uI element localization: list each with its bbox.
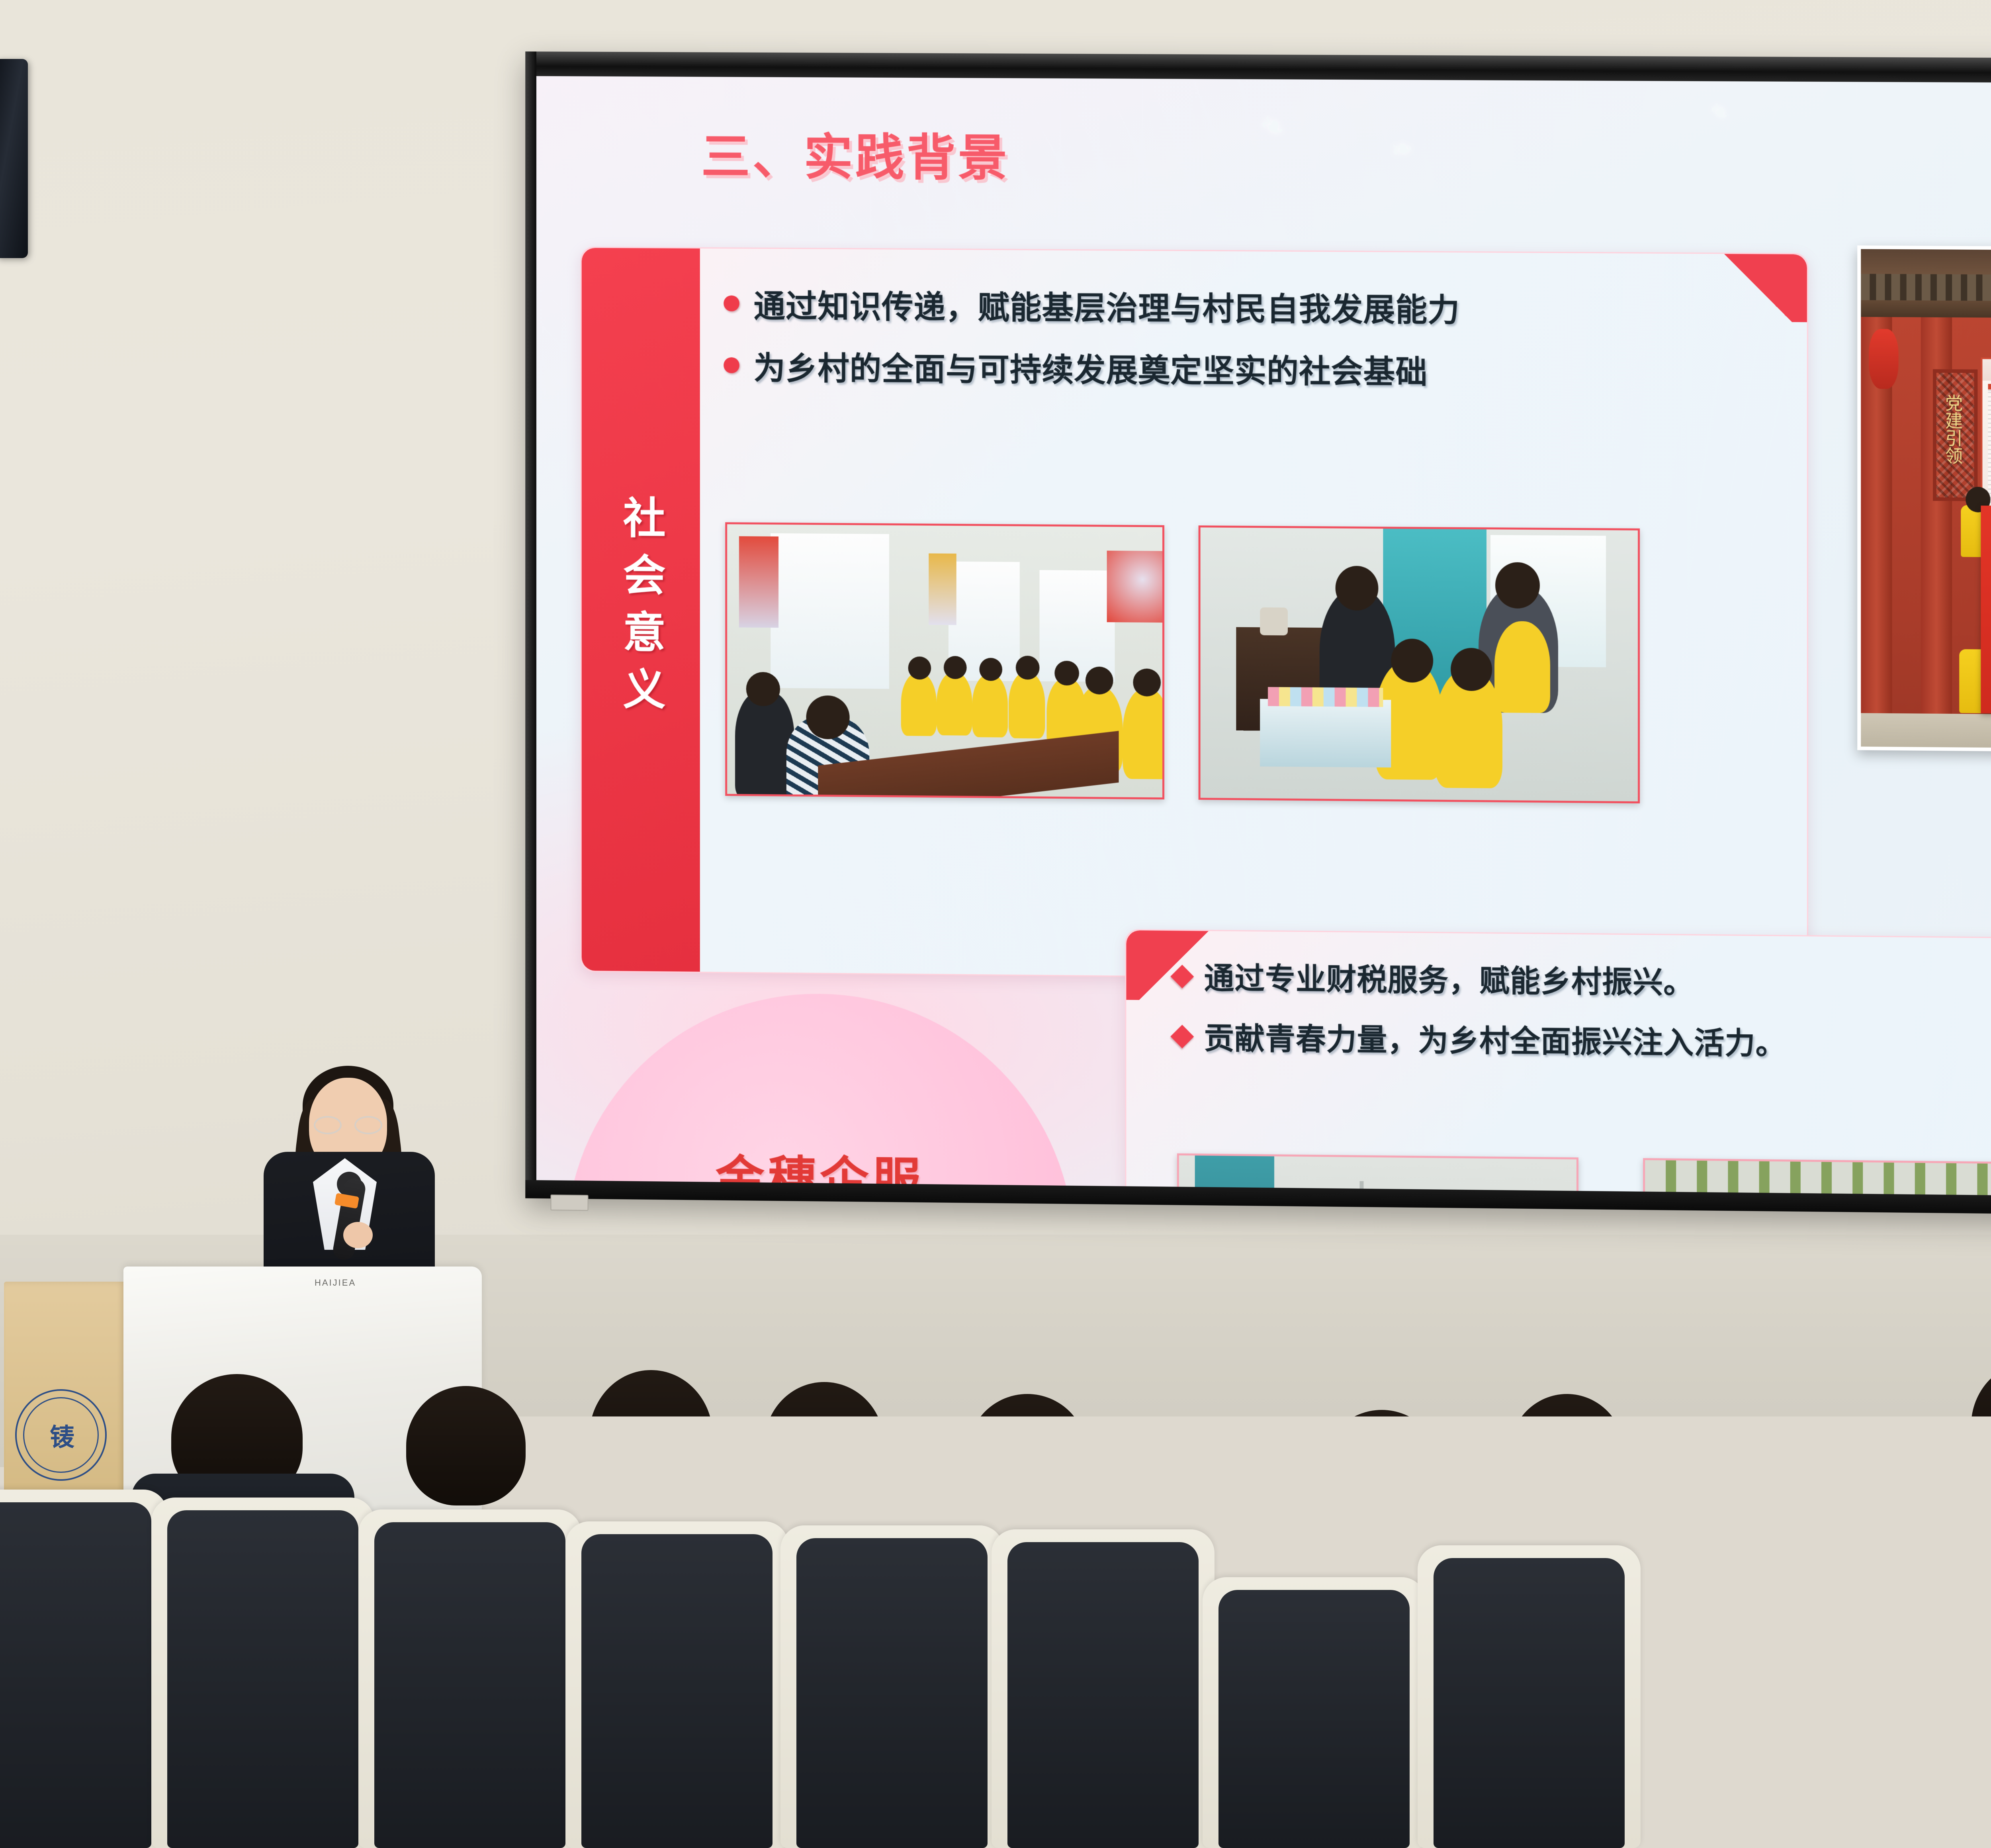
school-emblem-glyph: 鿏 [17, 1391, 105, 1479]
auditorium-seat[interactable] [1203, 1577, 1426, 1848]
bullet-text: 通过专业财税服务，赋能乡村振兴。 [1204, 960, 1694, 1002]
audience-head [765, 1382, 884, 1505]
social-significance-tab-label: 社会意义 [610, 495, 671, 724]
team-mission-card: 团队使命 通过专业财税服务，赋能乡村振兴。 贡献青春力量，为乡村全面振兴注入活力… [1125, 929, 1991, 1201]
butterfly-decoration-icon: ❧ [1705, 96, 1735, 127]
audience-head [406, 1386, 526, 1505]
banner-line-2: 会计学院金穗企服 [1981, 601, 1991, 635]
bullet-item: 贡献青春力量，为乡村全面振兴注入活力。 [1174, 1020, 1991, 1068]
bullet-text: 通过知识传递，赋能基层治理与村民自我发展能力 [754, 287, 1460, 329]
social-significance-card: 社会意义 通过知识传递，赋能基层治理与村民自我发展能力 为乡村的全面与可持续发展… [581, 247, 1808, 983]
lecture-hall-room: ❧ ❧ ❧ 三、实践背景 社会意义 通过知识传递，赋能基层治理与村民自我发展能力 [0, 0, 1991, 1848]
team-banner: 广西金融职业技术学院 会计学院金穗企服 乡村振兴服务队 [1981, 505, 1991, 715]
audience-head [1509, 1394, 1625, 1513]
social-bullet-list: 通过知识传递，赋能基层治理与村民自我发展能力 为乡村的全面与可持续发展奠定坚实的… [724, 287, 1771, 417]
butterfly-decoration-icon: ❧ [1389, 134, 1416, 164]
notebook [1203, 1547, 1294, 1579]
temple-couplet-left: 党建引领 [1938, 369, 1965, 489]
podium-side-panel: 鿏 [4, 1282, 127, 1521]
office-consultation-photo [1199, 525, 1640, 803]
auditorium-seat[interactable] [0, 1490, 167, 1848]
temple-ground [1861, 713, 1991, 751]
auditorium-seat[interactable] [780, 1525, 1003, 1848]
bullet-dot-icon [724, 357, 739, 373]
mission-bullet-list: 通过专业财税服务，赋能乡村振兴。 贡献青春力量，为乡村全面振兴注入活力。 [1174, 960, 1991, 1091]
school-emblem-icon: 鿏 [15, 1389, 107, 1481]
presentation-slide: ❧ ❧ ❧ 三、实践背景 社会意义 通过知识传递，赋能基层治理与村民自我发展能力 [536, 76, 1991, 1201]
temple-group-photo: 马家村“党建引领·筑梦马家”党建品牌 党建引领 筑梦马家 党建引领 [1857, 245, 1991, 755]
bullet-text: 贡献青春力量，为乡村全面振兴注入活力。 [1204, 1020, 1786, 1063]
auditorium-seat[interactable] [1418, 1545, 1641, 1848]
banner-line-3: 乡村振兴服务队 [1981, 632, 1991, 666]
projection-screen[interactable]: ❧ ❧ ❧ 三、实践背景 社会意义 通过知识传递，赋能基层治理与村民自我发展能力 [525, 51, 1991, 1219]
auditorium-seat[interactable] [151, 1498, 374, 1848]
bullet-diamond-icon [1170, 1025, 1194, 1048]
wall-speaker [0, 59, 28, 258]
social-significance-tab: 社会意义 [582, 248, 700, 971]
bullet-item: 通过专业财税服务，赋能乡村振兴。 [1174, 960, 1991, 1008]
temple-roof-tiles [1861, 274, 1991, 303]
slide-title: 三、实践背景 [701, 116, 1009, 189]
audience-head [968, 1394, 1087, 1513]
presenter-glasses-icon [314, 1116, 382, 1134]
butterfly-decoration-icon: ❧ [1255, 106, 1291, 145]
auditorium-seat[interactable] [358, 1509, 581, 1848]
bullet-dot-icon [724, 296, 739, 311]
screen-mount-bracket [551, 1194, 589, 1211]
bullet-text: 为乡村的全面与可持续发展奠定坚实的社会基础 [754, 348, 1428, 391]
podium-brand-label: HAIJIEA [315, 1278, 356, 1288]
bullet-item: 通过知识传递，赋能基层治理与村民自我发展能力 [724, 287, 1771, 331]
team-name-circle: 金穗企服 乡村振兴 服务队 [566, 991, 1074, 1201]
bullet-item: 为乡村的全面与可持续发展奠定坚实的社会基础 [724, 348, 1771, 393]
auditorium-seat[interactable] [1828, 1561, 1991, 1848]
auditorium-seat[interactable] [992, 1529, 1215, 1848]
auditorium-seat[interactable] [565, 1521, 788, 1848]
screen-frame-left [525, 51, 536, 1198]
village-meeting-photo [725, 522, 1164, 799]
banner-line-1: 广西金融职业技术学院 [1981, 569, 1991, 603]
presenter-hand [343, 1222, 373, 1248]
audience-head [1322, 1410, 1441, 1529]
bullet-diamond-icon [1170, 965, 1194, 988]
temple-board-title: 马家村“党建引领·筑梦马家”党建品牌 [1982, 362, 1991, 379]
rear-board-strip [1183, 1509, 1883, 1533]
